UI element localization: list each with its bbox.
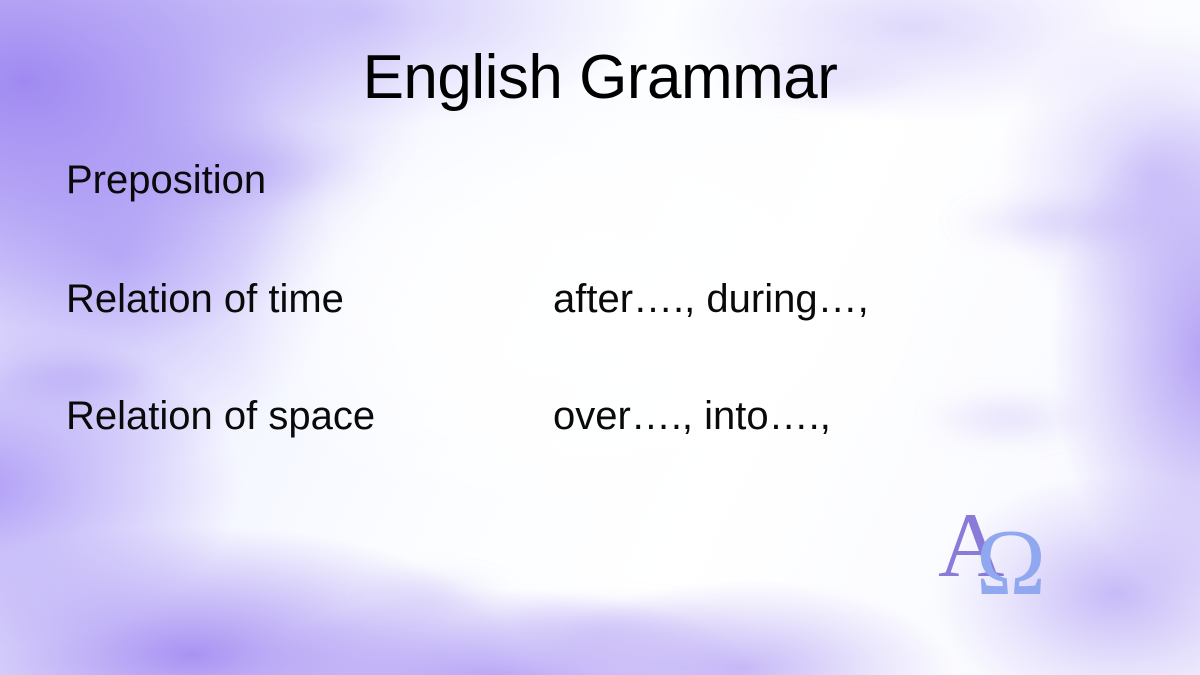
- presentation-slide: English Grammar Preposition Relation of …: [0, 0, 1200, 675]
- body-row-preposition: Preposition: [66, 158, 1126, 202]
- relation-of-time-term: Relation of time: [66, 277, 553, 321]
- relation-of-time-examples: after…., during…,: [553, 277, 869, 321]
- body-row-relation-of-space: Relation of space over…., into….,: [66, 394, 1126, 438]
- body-row-relation-of-time: Relation of time after…., during…,: [66, 277, 1126, 321]
- omega-icon: Ω: [976, 511, 1046, 600]
- preposition-heading: Preposition: [66, 158, 553, 202]
- relation-of-space-term: Relation of space: [66, 394, 553, 438]
- slide-content: English Grammar Preposition Relation of …: [0, 0, 1200, 675]
- slide-title: English Grammar: [0, 46, 1200, 110]
- alpha-omega-logo: Α Ω: [936, 494, 1060, 600]
- relation-of-space-examples: over…., into….,: [553, 394, 831, 438]
